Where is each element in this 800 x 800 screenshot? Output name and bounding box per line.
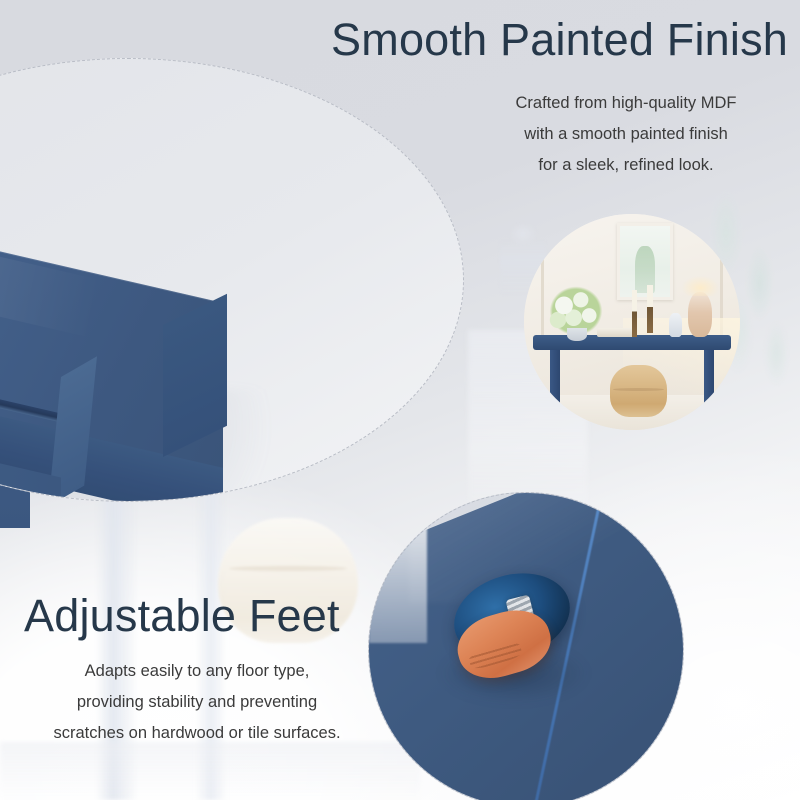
feature-title-smooth-painted-finish: Smooth Painted Finish bbox=[331, 16, 788, 63]
body-line: for a sleek, refined look. bbox=[452, 150, 800, 181]
room-candlestick-2 bbox=[647, 285, 652, 333]
hero-table-closeup bbox=[0, 59, 463, 501]
body-line: providing stability and preventing bbox=[8, 687, 386, 718]
body-line: Adapts easily to any floor type, bbox=[8, 656, 386, 687]
feature-body-adjustable-feet: Adapts easily to any floor type, providi… bbox=[8, 656, 386, 749]
body-line: scratches on hardwood or tile surfaces. bbox=[8, 718, 386, 749]
hero-product-ellipse bbox=[0, 58, 464, 502]
room-scene-circle bbox=[524, 214, 740, 430]
room-table-leg-right bbox=[704, 348, 714, 419]
room-rattan-stool bbox=[610, 365, 666, 417]
room-flower-vase bbox=[567, 328, 586, 341]
body-line: with a smooth painted finish bbox=[452, 119, 800, 150]
room-table-lamp bbox=[688, 292, 712, 337]
infographic-canvas: Smooth Painted Finish Crafted from high-… bbox=[0, 0, 800, 800]
feature-title-adjustable-feet: Adjustable Feet bbox=[24, 592, 340, 639]
body-line: Crafted from high-quality MDF bbox=[452, 88, 800, 119]
room-glass-bottle bbox=[669, 313, 682, 337]
room-table-leg-left bbox=[550, 348, 560, 419]
foot-background-wall bbox=[369, 493, 427, 643]
room-candlestick-1 bbox=[632, 290, 637, 338]
feature-body-smooth-painted-finish: Crafted from high-quality MDF with a smo… bbox=[452, 88, 800, 181]
adjustable-foot-circle bbox=[368, 492, 684, 800]
room-framed-art bbox=[617, 223, 673, 301]
room-books bbox=[597, 328, 634, 337]
ghost-floor-line bbox=[0, 742, 420, 800]
